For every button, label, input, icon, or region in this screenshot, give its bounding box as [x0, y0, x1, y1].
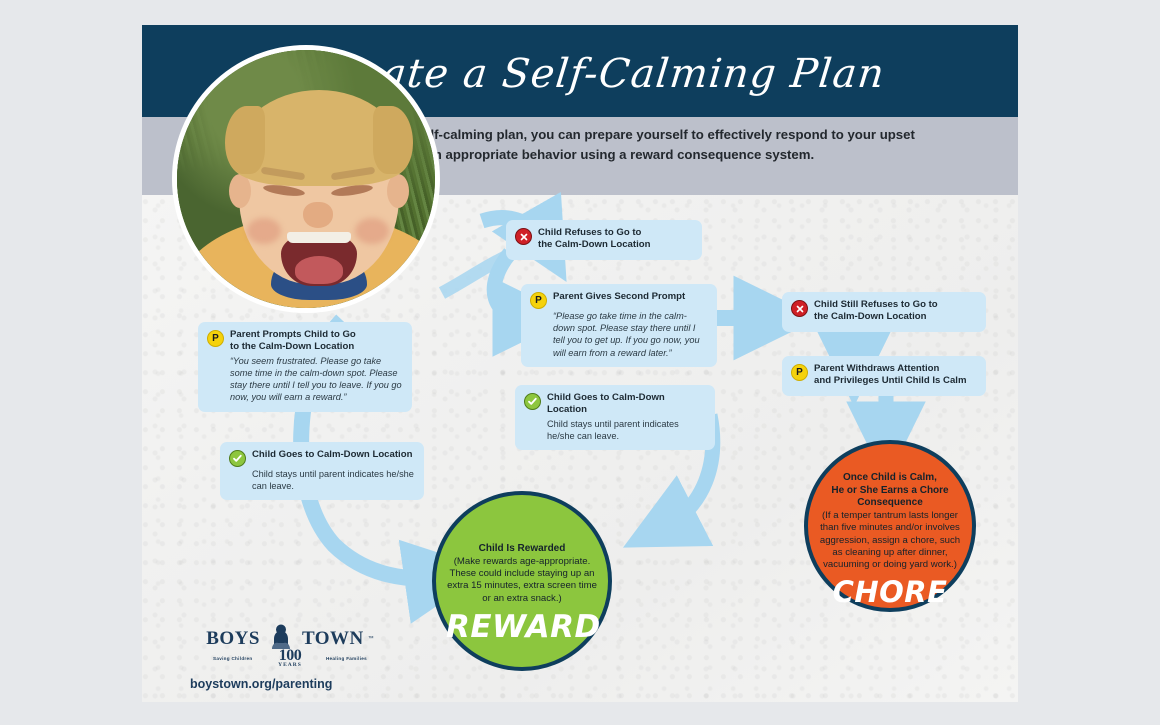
photo-ear-right: [387, 174, 409, 208]
infographic-poster: Create a Self-Calming Plan By following …: [142, 25, 1018, 702]
chore-title-line2: He or She Earns a Chore: [818, 485, 962, 498]
step-body: Child stays until parent indicates he/sh…: [547, 418, 706, 442]
chore-title-line1: Once Child is Calm,: [818, 472, 962, 485]
step-title-line1: Parent Gives Second Prompt: [553, 291, 685, 303]
step-quote: “Please go take time in the calm-down sp…: [553, 310, 708, 359]
step-title-line2: and Privileges Until Child Is Calm: [814, 375, 966, 387]
badge-prompt-icon: P: [207, 330, 224, 347]
badge-prompt-icon: P: [530, 292, 547, 309]
tagline-saving-children: Saving Children: [213, 656, 252, 661]
step-box-child-goes-middle[interactable]: Child Goes to Calm-Down Location Child s…: [515, 385, 715, 450]
chore-body: (If a temper tantrum lasts longer than f…: [818, 510, 962, 572]
logo-text-town: TOWN: [302, 628, 364, 650]
chore-word: CHORE: [818, 575, 962, 609]
chore-outcome-circle[interactable]: Once Child is Calm, He or She Earns a Ch…: [804, 440, 976, 612]
step-title-line1: Child Still Refuses to Go to: [814, 299, 938, 311]
step-title-line1: Child Goes to Calm-Down Location: [252, 449, 412, 461]
badge-letter: P: [796, 368, 803, 378]
step-title-line2: to the Calm-Down Location: [230, 341, 356, 353]
step-quote: “You seem frustrated. Please go take som…: [230, 355, 403, 404]
boys-town-logo[interactable]: BOYS TOWN™ Saving Children Healing Famil…: [190, 622, 390, 668]
reward-outcome-circle[interactable]: Child Is Rewarded (Make rewards age-appr…: [432, 491, 612, 671]
photo-cheek-left: [247, 218, 281, 244]
step-title-line1: Parent Prompts Child to Go: [230, 329, 356, 341]
logo-text-boys: BOYS: [206, 628, 260, 650]
website-url[interactable]: boystown.org/parenting: [190, 677, 332, 691]
logo-trademark: ™: [368, 636, 374, 642]
tagline-healing-families: Healing Families: [326, 656, 367, 661]
photo-cheek-right: [355, 218, 389, 244]
step-box-parent-withdraws[interactable]: P Parent Withdraws Attention and Privile…: [782, 356, 986, 396]
step-box-second-prompt[interactable]: P Parent Gives Second Prompt “Please go …: [521, 284, 717, 367]
step-body: Child stays until parent indicates he/sh…: [252, 468, 415, 492]
badge-prompt-icon: P: [791, 364, 808, 381]
step-title-line2: the Calm-Down Location: [538, 239, 650, 251]
logo-emblem-icon: [264, 622, 298, 656]
badge-check-icon: [229, 450, 246, 467]
arrow-refuses-to-second-prompt: [494, 253, 524, 317]
photo-tongue: [295, 256, 343, 284]
badge-x-icon: [515, 228, 532, 245]
photo-ear-left: [229, 174, 251, 208]
photo-nose: [303, 202, 333, 228]
reward-word: REWARD: [446, 609, 598, 645]
step-box-child-refuses[interactable]: Child Refuses to Go to the Calm-Down Loc…: [506, 220, 702, 260]
badge-check-icon: [524, 393, 541, 410]
step-box-child-goes-left[interactable]: Child Goes to Calm-Down Location Child s…: [220, 442, 424, 500]
reward-title: Child Is Rewarded: [446, 543, 598, 556]
reward-body: (Make rewards age-appropriate. These cou…: [446, 556, 598, 606]
step-title-line1: Child Refuses to Go to: [538, 227, 650, 239]
badge-x-icon: [791, 300, 808, 317]
badge-letter: P: [212, 334, 219, 344]
badge-letter: P: [535, 296, 542, 306]
step-box-child-still-refuses[interactable]: Child Still Refuses to Go to the Calm-Do…: [782, 292, 986, 332]
anniversary-label: YEARS: [190, 662, 390, 668]
photo-hair-left: [225, 106, 265, 174]
chore-title-line3: Consequence: [818, 497, 962, 510]
step-box-parent-prompts[interactable]: P Parent Prompts Child to Go to the Calm…: [198, 322, 412, 412]
step-title-line1: Parent Withdraws Attention: [814, 363, 966, 375]
photo-teeth: [287, 232, 351, 243]
step-title-line1: Child Goes to Calm-Down Location: [547, 392, 706, 417]
crying-child-photo: [172, 45, 440, 313]
step-title-line2: the Calm-Down Location: [814, 311, 938, 323]
